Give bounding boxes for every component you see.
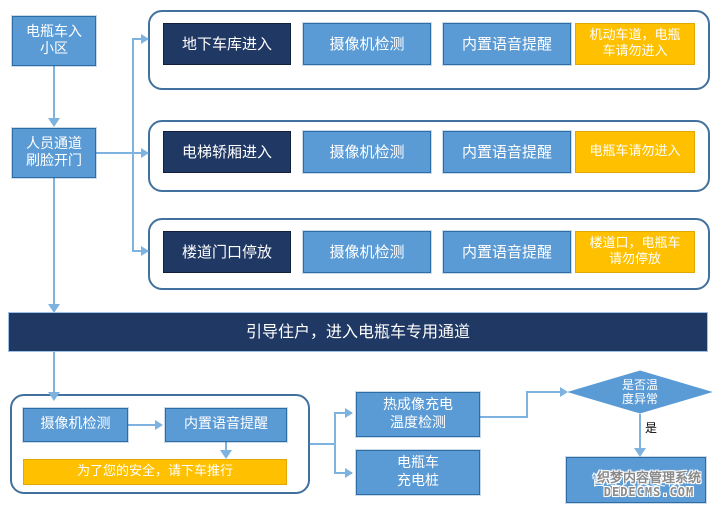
arrowhead-banner-to-passage xyxy=(48,392,60,401)
node-garage-detect[interactable]: 摄像机检测 xyxy=(303,23,431,65)
node-passage-detect[interactable]: 摄像机检测 xyxy=(23,408,128,442)
connector-vehicle-to-person xyxy=(53,66,55,118)
arrowhead-to-thermal xyxy=(345,408,353,418)
banner-guide-residents[interactable]: 引导住户，进入电瓶车专用通道 xyxy=(8,312,708,352)
connector-person-to-banner xyxy=(53,178,55,304)
node-corridor-warning[interactable]: 楼道口，电瓶车 请勿停放 xyxy=(575,231,695,273)
arrowhead-decision-to-result xyxy=(634,448,646,457)
connector-person-to-trunk xyxy=(96,152,134,154)
connector-passage-out xyxy=(310,443,336,445)
arrowhead-vehicle-to-person xyxy=(48,118,60,127)
edge-label-yes: 是 xyxy=(645,419,657,436)
watermark-line-2: DEDECMS.COM xyxy=(588,486,710,499)
arrowhead-branch-garage xyxy=(141,34,149,44)
node-elevator-warning[interactable]: 电瓶车请勿进入 xyxy=(575,131,695,173)
arrowhead-branch-elevator xyxy=(141,148,149,158)
decision-temperature-abnormal[interactable]: 是否温 度异常 xyxy=(568,370,712,414)
node-vehicle-entry[interactable]: 电瓶车入 小区 xyxy=(12,16,96,66)
node-elevator-detect[interactable]: 摄像机检测 xyxy=(303,131,431,173)
node-passage-warning[interactable]: 为了您的安全，请下车推行 xyxy=(23,459,287,485)
node-charging-pile[interactable]: 电瓶车 充电桩 xyxy=(356,450,480,495)
arrowhead-thermal-to-decision xyxy=(560,387,568,397)
connector-charging-split xyxy=(334,412,336,474)
connector-thermal-rise xyxy=(526,391,528,418)
node-corridor-detect[interactable]: 摄像机检测 xyxy=(303,231,431,273)
connector-branch-trunk xyxy=(132,38,134,250)
node-garage-trigger[interactable]: 地下车库进入 xyxy=(163,23,291,65)
node-passage-voice[interactable]: 内置语音提醒 xyxy=(165,408,287,442)
flowchart-canvas: 电瓶车入 小区 人员通道 刷脸开门 地下车库进入 摄像机检测 内置语音提醒 机动… xyxy=(0,0,715,507)
arrowhead-voice-to-warning xyxy=(220,450,232,459)
arrowhead-branch-corridor xyxy=(141,246,149,256)
connector-detect-to-voice xyxy=(128,424,157,426)
connector-thermal-out xyxy=(480,416,528,418)
connector-banner-to-passage xyxy=(53,352,55,392)
node-thermal-detection[interactable]: 热成像充电 温度检测 xyxy=(356,392,480,437)
arrowhead-detect-to-voice xyxy=(155,420,163,430)
node-elevator-voice[interactable]: 内置语音提醒 xyxy=(443,131,571,173)
watermark-line-1: 织梦内容管理系统 xyxy=(588,472,710,486)
watermark: 织梦内容管理系统 DEDECMS.COM xyxy=(588,472,710,498)
node-corridor-voice[interactable]: 内置语音提醒 xyxy=(443,231,571,273)
arrowhead-to-pile xyxy=(345,468,353,478)
node-garage-voice[interactable]: 内置语音提醒 xyxy=(443,23,571,65)
node-elevator-trigger[interactable]: 电梯轿厢进入 xyxy=(163,131,291,173)
node-garage-warning[interactable]: 机动车道，电瓶 车请勿进入 xyxy=(575,23,695,65)
node-corridor-trigger[interactable]: 楼道门口停放 xyxy=(163,231,291,273)
decision-label: 是否温 度异常 xyxy=(568,370,712,414)
node-person-entry[interactable]: 人员通道 刷脸开门 xyxy=(12,128,96,178)
connector-decision-to-result xyxy=(639,414,641,450)
